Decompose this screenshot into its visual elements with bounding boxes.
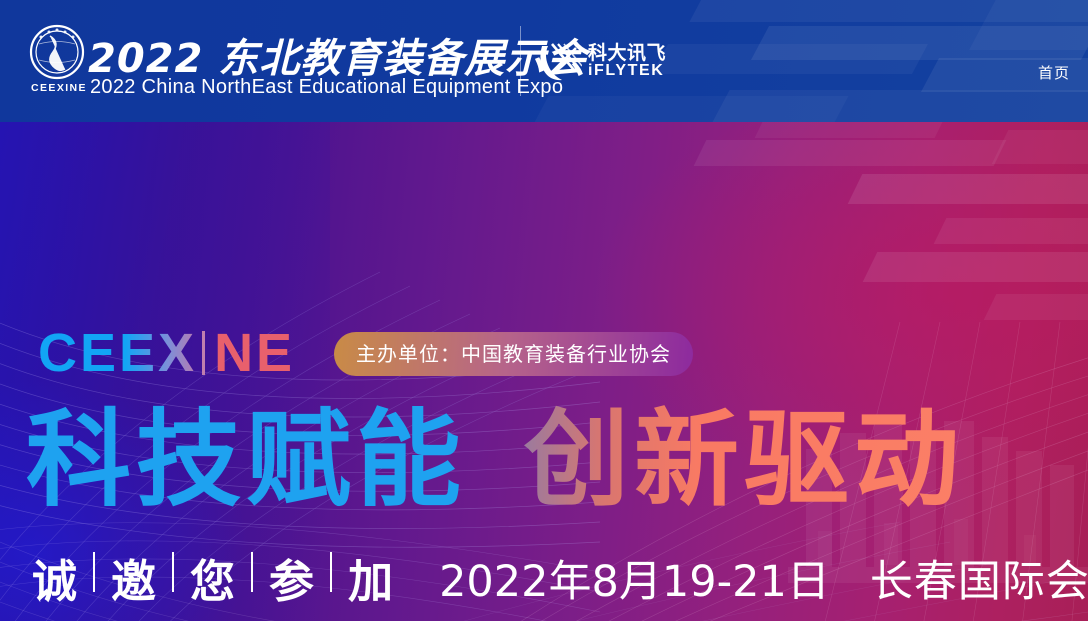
- banner-decor-shard: [934, 218, 1088, 244]
- invite-separator: [330, 552, 332, 592]
- organizer-badge: 主办单位：中国教育装备行业协会: [334, 332, 693, 376]
- banner-decor-shard: [848, 174, 1088, 204]
- header-decor-shape: [689, 0, 1088, 22]
- invite-char: 参: [269, 552, 314, 612]
- wordmark-ceex: CEEX: [38, 323, 197, 383]
- hero-headline: 科技赋能创新驱动: [26, 404, 1066, 516]
- ceex-ne-wordmark: CEEXNE: [38, 322, 295, 384]
- invite-char: 您: [190, 552, 235, 612]
- headline-line-b: 创新驱动: [524, 404, 964, 516]
- header-decor-shape: [710, 90, 1088, 122]
- banner-decor-shard: [863, 252, 1088, 282]
- nav-item-home[interactable]: 首页: [1038, 62, 1070, 83]
- header-decor-shape: [969, 0, 1088, 50]
- invite-separator: [93, 552, 95, 592]
- banner-decor-shard: [984, 294, 1088, 320]
- expo-landing-page: CEEXINE 2022 东北教育装备展示会 2022 China NorthE…: [0, 0, 1088, 621]
- invite-separator: [251, 552, 253, 592]
- banner-decor-shard: [755, 122, 946, 138]
- header-decor-shape: [652, 44, 928, 74]
- invite-row: 诚邀您参加2022年8月19-21日长春国际会展中心: [32, 552, 1088, 612]
- event-venue: 长春国际会展中心: [870, 552, 1088, 612]
- headline-line-a: 科技赋能: [26, 404, 466, 516]
- globe-emblem-icon: [26, 24, 88, 82]
- wordmark-ne: NE: [214, 323, 295, 383]
- header-decor-shape: [531, 96, 848, 122]
- invite-separator: [172, 552, 174, 592]
- iflytek-name-en: iFLYTEK: [588, 62, 664, 80]
- ceexine-emblem[interactable]: CEEXINE: [22, 24, 96, 100]
- emblem-caption: CEEXINE: [22, 82, 96, 94]
- iflytek-sponsor-logo[interactable]: 科大讯飞 iFLYTEK: [536, 38, 666, 86]
- invite-char: 加: [348, 552, 393, 612]
- iflytek-name-cn: 科大讯飞: [588, 38, 666, 65]
- site-header: CEEXINE 2022 东北教育装备展示会 2022 China NorthE…: [0, 0, 1088, 122]
- header-title-en: 2022 China NorthEast Educational Equipme…: [90, 76, 563, 99]
- wordmark-divider: [202, 331, 205, 375]
- banner-decor-shard: [992, 130, 1088, 164]
- banner-decor-shard: [694, 140, 1007, 166]
- event-date: 2022年8月19-21日: [439, 552, 830, 612]
- invite-char: 诚: [32, 552, 77, 612]
- invite-char: 邀: [111, 552, 156, 612]
- header-decor-shape: [751, 26, 1088, 60]
- iflytek-mark-icon: [536, 40, 582, 84]
- header-divider: [520, 26, 521, 96]
- hero-banner: CEEXNE 主办单位：中国教育装备行业协会 科技赋能创新驱动 诚邀您参加202…: [0, 122, 1088, 621]
